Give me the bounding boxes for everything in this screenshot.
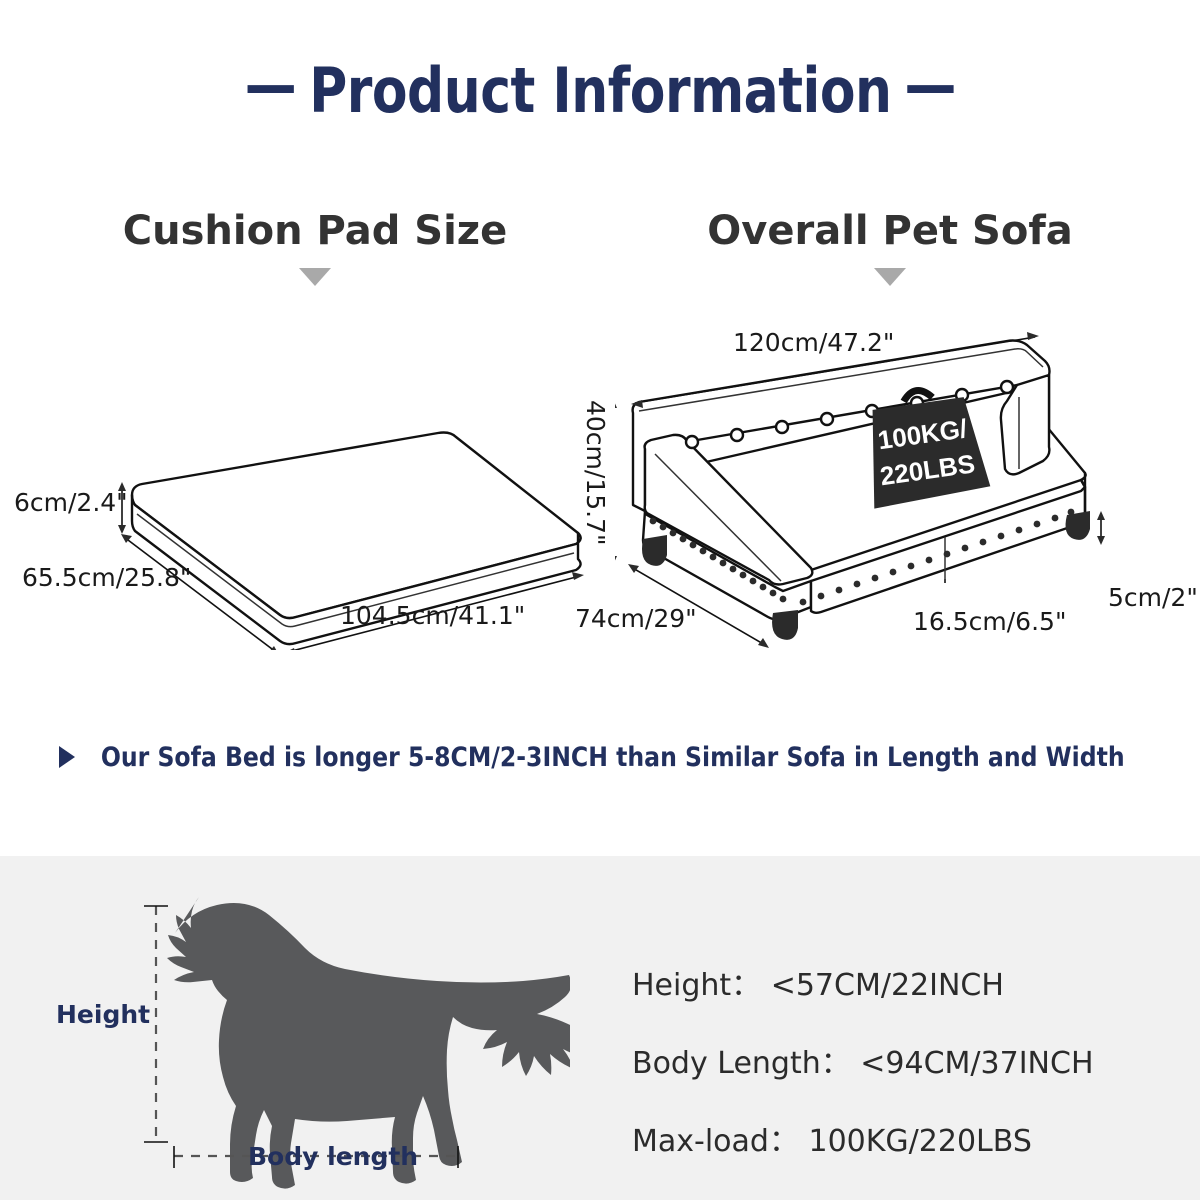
sofa-foot-right — [1066, 511, 1090, 540]
chevron-down-icon — [874, 268, 906, 286]
spec-row-max-load: Max-load： 100KG/220LBS — [632, 1116, 1094, 1160]
sofa-heading-text: Overall Pet Sofa — [680, 208, 1100, 254]
highlight-banner: Our Sofa Bed is longer 5-8CM/2-3INCH tha… — [0, 742, 1200, 773]
product-information-infographic: —Product Information— Cushion Pad Size O… — [0, 0, 1200, 1200]
chevron-down-icon — [299, 268, 331, 286]
pet-sofa-illustration: 100KG/ 220LBS — [615, 325, 1195, 665]
sofa-seat-height-label: 16.5cm/6.5" — [913, 607, 1066, 636]
spec-row-body-length: Body Length： <94CM/37INCH — [632, 1038, 1094, 1082]
title-text: Product Information — [309, 54, 891, 127]
sofa-foot-front-left — [772, 610, 798, 640]
title-dash-left: — — [231, 48, 308, 121]
cushion-section-heading: Cushion Pad Size — [105, 208, 525, 286]
body-length-label: Body length — [248, 1142, 418, 1171]
title-dash-right: — — [891, 48, 968, 121]
cushion-thickness-label: 6cm/2.4" — [14, 488, 128, 517]
spec-row-height: Height： <57CM/22INCH — [632, 960, 1094, 1004]
dog-spec-list: Height： <57CM/22INCH Body Length： <94CM/… — [632, 960, 1094, 1194]
page-title: —Product Information— — [231, 54, 968, 127]
play-triangle-icon — [59, 746, 75, 768]
cushion-length-label: 104.5cm/41.1" — [340, 601, 525, 630]
sofa-foot-height-label: 5cm/2" — [1108, 583, 1198, 612]
sofa-foot-rear-left — [642, 535, 667, 566]
cushion-depth-label: 65.5cm/25.8" — [22, 563, 191, 592]
sofa-height-label: 40cm/15.7" — [581, 400, 610, 546]
page-title-wrap: —Product Information— — [0, 54, 1200, 127]
sofa-section-heading: Overall Pet Sofa — [680, 208, 1100, 286]
sofa-width-label: 120cm/47.2" — [733, 328, 894, 357]
banner-text: Our Sofa Bed is longer 5-8CM/2-3INCH tha… — [101, 742, 1125, 773]
sofa-depth-label: 74cm/29" — [575, 604, 697, 633]
cushion-heading-text: Cushion Pad Size — [105, 208, 525, 254]
height-label: Height — [56, 1000, 150, 1029]
